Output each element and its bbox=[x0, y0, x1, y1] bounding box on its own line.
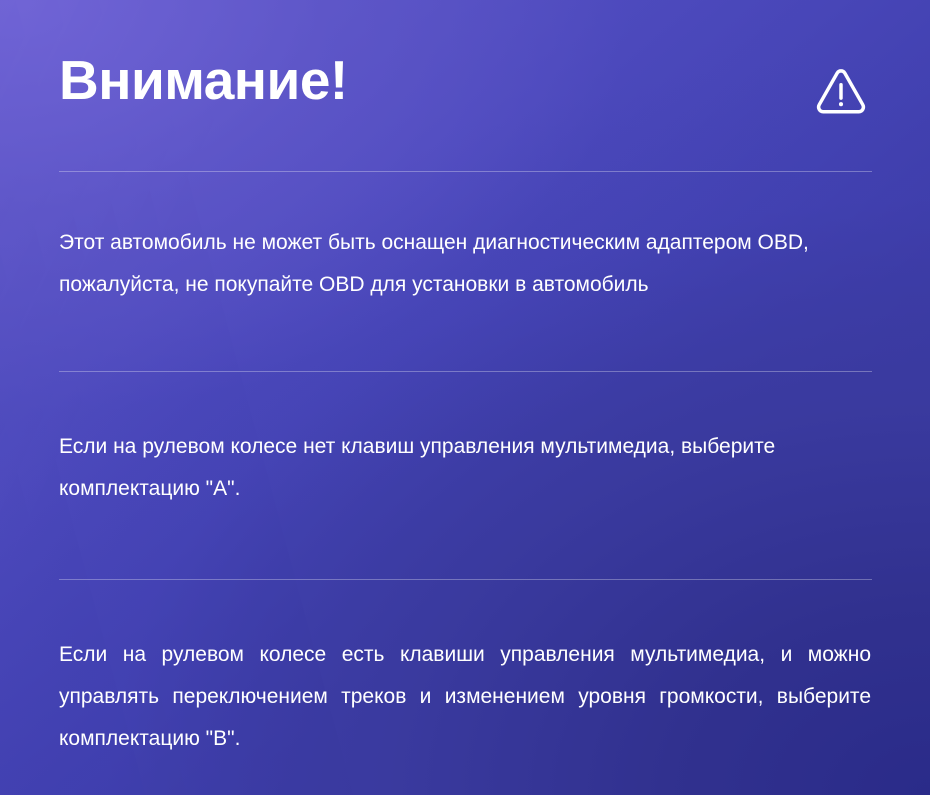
divider-top bbox=[59, 171, 872, 172]
notice-paragraph-obd-not-supported: Этот автомобиль не может быть оснащен ди… bbox=[59, 193, 871, 350]
divider-bottom bbox=[59, 579, 872, 580]
warning-triangle-icon bbox=[814, 68, 868, 120]
notice-paragraph-trim-b-text: Если на рулевом колесе есть клавиши упра… bbox=[59, 643, 871, 750]
notice-paragraph-trim-b: Если на рулевом колесе есть клавиши упра… bbox=[59, 601, 871, 795]
notice-header: Внимание! bbox=[59, 0, 871, 171]
page-title: Внимание! bbox=[59, 53, 348, 108]
warning-notice-page: Внимание! Этот автомобиль не может быть … bbox=[0, 0, 930, 795]
notice-content: Внимание! Этот автомобиль не может быть … bbox=[0, 0, 930, 795]
divider-middle bbox=[59, 371, 872, 372]
notice-paragraph-trim-a: Если на рулевом колесе нет клавиш управл… bbox=[59, 393, 871, 558]
